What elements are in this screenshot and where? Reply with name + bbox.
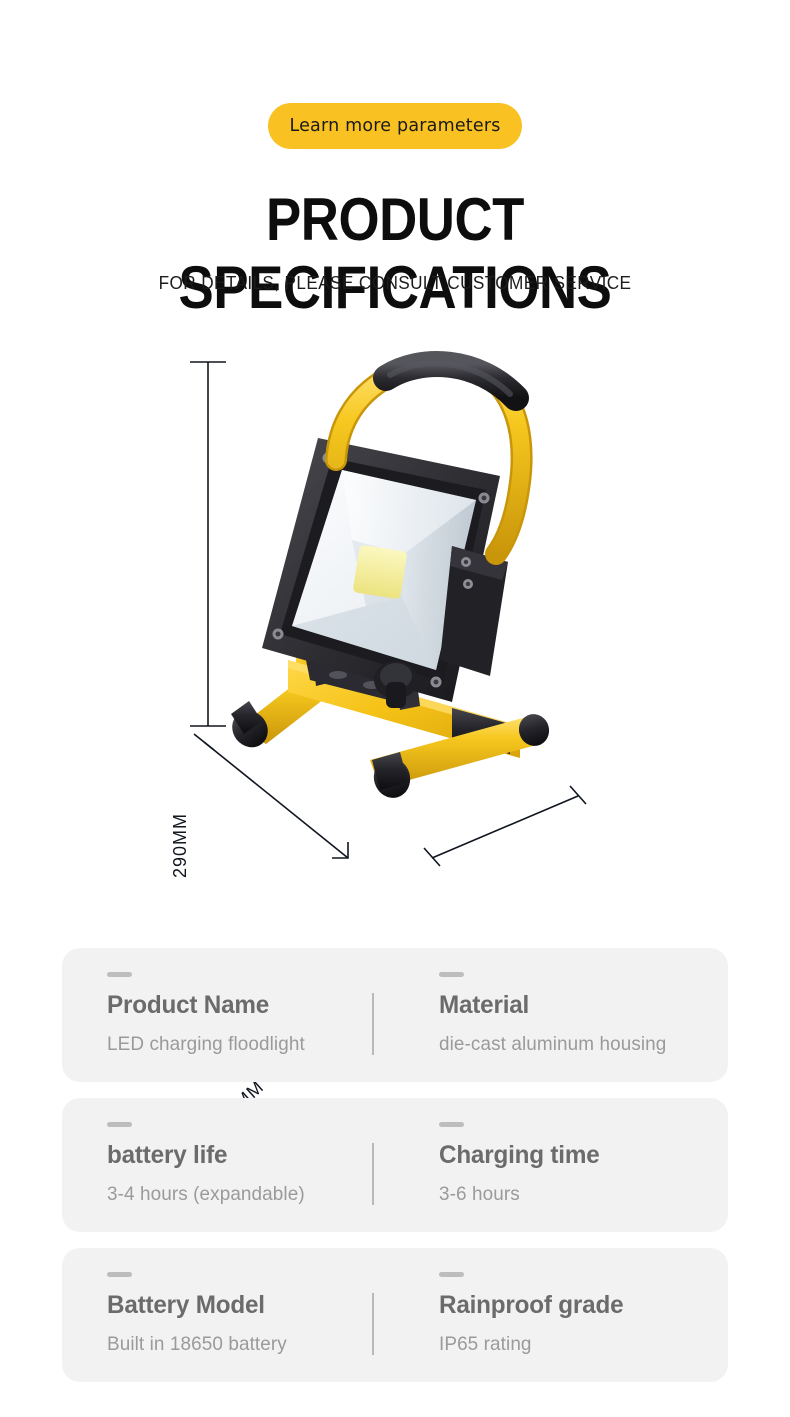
dimension-label-height: 290MM [170, 813, 191, 878]
product-specifications-page: Learn more parameters PRODUCT SPECIFICAT… [0, 0, 790, 1417]
spec-value: IP65 rating [439, 1332, 719, 1356]
dash-marker-icon [439, 972, 464, 977]
dimension-height-290 [190, 362, 226, 726]
column-divider [372, 993, 374, 1055]
spec-item-battery-model: Battery Model Built in 18650 battery [62, 1248, 395, 1382]
specification-list: Product Name LED charging floodlight Mat… [62, 948, 728, 1398]
spec-label: Charging time [439, 1140, 719, 1170]
dimension-depth-185 [194, 734, 348, 858]
spec-value: LED charging floodlight [107, 1032, 386, 1056]
product-image-area: 290MM 185MM 130MM [0, 330, 790, 930]
spec-item-battery-life: battery life 3-4 hours (expandable) [62, 1098, 395, 1232]
dash-marker-icon [107, 972, 132, 977]
badge-label: Learn more parameters [289, 116, 500, 136]
dash-marker-icon [107, 1272, 132, 1277]
spec-label: battery life [107, 1140, 386, 1170]
spec-value: 3-6 hours [439, 1182, 719, 1206]
product-floodlight-illustration [0, 330, 790, 930]
spec-value: die-cast aluminum housing [439, 1032, 719, 1056]
spec-value: 3-4 hours (expandable) [107, 1182, 386, 1206]
dash-marker-icon [439, 1122, 464, 1127]
spec-value: Built in 18650 battery [107, 1332, 386, 1356]
dimension-width-130 [424, 786, 586, 866]
learn-more-parameters-badge[interactable]: Learn more parameters [268, 103, 522, 149]
page-subtitle: FOR DETAILS, PLEASE CONSULT CUSTOMER SER… [28, 272, 763, 294]
column-divider [372, 1143, 374, 1205]
spec-item-material: Material die-cast aluminum housing [395, 948, 728, 1082]
dash-marker-icon [439, 1272, 464, 1277]
spec-item-product-name: Product Name LED charging floodlight [62, 948, 395, 1082]
spec-label: Product Name [107, 990, 386, 1020]
spec-item-rainproof-grade: Rainproof grade IP65 rating [395, 1248, 728, 1382]
spec-card: Product Name LED charging floodlight Mat… [62, 948, 728, 1082]
spec-label: Battery Model [107, 1290, 386, 1320]
column-divider [372, 1293, 374, 1355]
page-title: PRODUCT SPECIFICATIONS [47, 186, 742, 322]
spec-card: battery life 3-4 hours (expandable) Char… [62, 1098, 728, 1232]
spec-item-charging-time: Charging time 3-6 hours [395, 1098, 728, 1232]
spec-label: Material [439, 990, 719, 1020]
spec-card: Battery Model Built in 18650 battery Rai… [62, 1248, 728, 1382]
spec-label: Rainproof grade [439, 1290, 719, 1320]
floodlight-rear-body [440, 546, 508, 676]
led-chip [353, 545, 408, 600]
dash-marker-icon [107, 1122, 132, 1127]
